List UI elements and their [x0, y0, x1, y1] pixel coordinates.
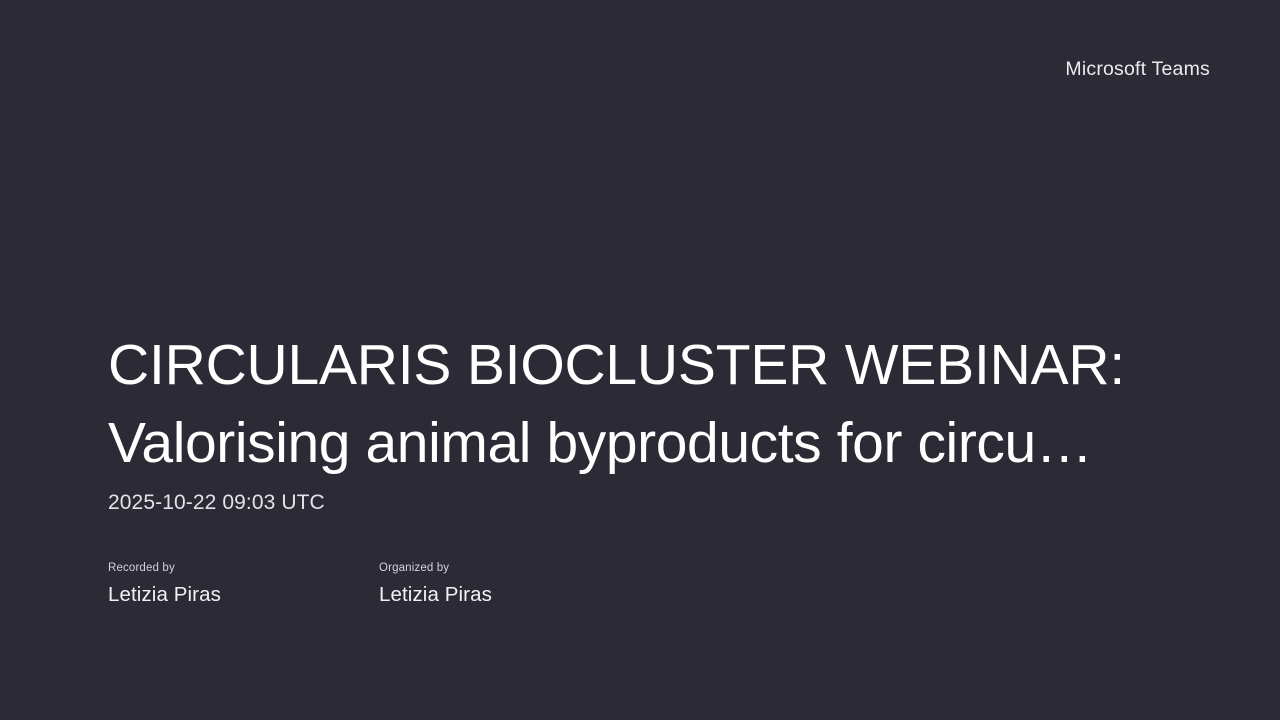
recorded-by-value: Letizia Piras: [108, 583, 379, 608]
recording-title-card: Microsoft Teams CIRCULARIS BIOCLUSTER WE…: [0, 0, 1280, 720]
credit-recorded-by: Recorded by Letizia Piras: [108, 562, 379, 607]
organized-by-label: Organized by: [379, 562, 492, 575]
title-content-block: CIRCULARIS BIOCLUSTER WEBINAR: Valorisin…: [108, 326, 1172, 607]
meeting-title: CIRCULARIS BIOCLUSTER WEBINAR: Valorisin…: [108, 326, 1172, 482]
microsoft-teams-branding: Microsoft Teams: [1065, 60, 1210, 80]
credits-row: Recorded by Letizia Piras Organized by L…: [108, 562, 1172, 607]
recording-timestamp: 2025-10-22 09:03 UTC: [108, 491, 1172, 515]
recorded-by-label: Recorded by: [108, 562, 379, 575]
organized-by-value: Letizia Piras: [379, 583, 492, 608]
meeting-title-line-1: CIRCULARIS BIOCLUSTER WEBINAR:: [108, 326, 1172, 404]
credit-organized-by: Organized by Letizia Piras: [379, 562, 492, 607]
meeting-title-line-2: Valorising animal byproducts for circu…: [108, 404, 1172, 482]
